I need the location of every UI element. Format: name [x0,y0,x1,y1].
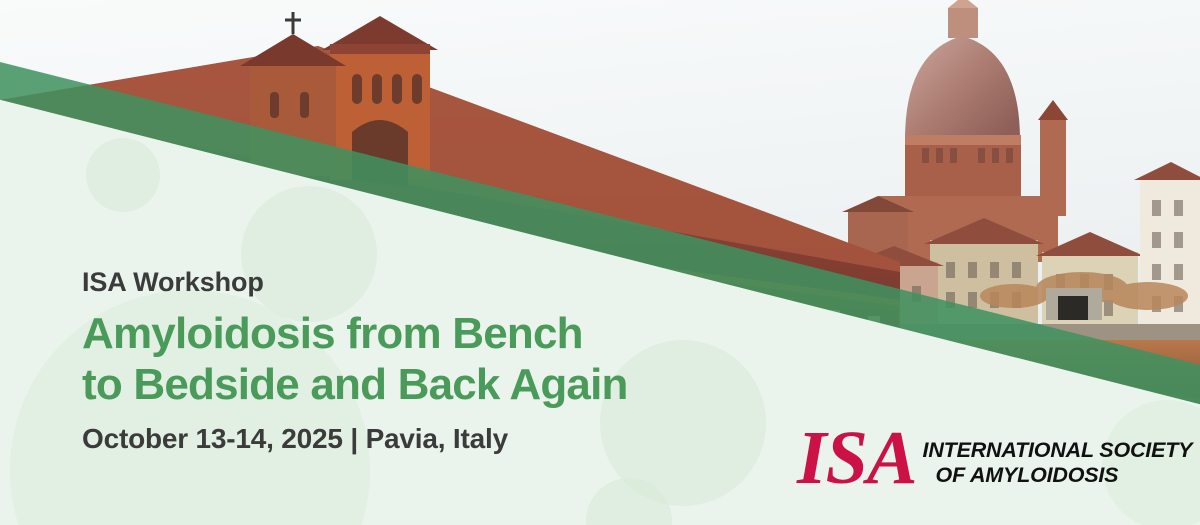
banner-copy: ISA Workshop Amyloidosis from Bench to B… [82,268,722,455]
event-eyebrow: ISA Workshop [82,268,722,298]
event-title-line-2: to Bedside and Back Again [82,359,722,410]
event-date-location: October 13-14, 2025 | Pavia, Italy [82,424,722,455]
isa-logo-wordmark: INTERNATIONAL SOCIETY OF AMYLOIDOSIS [923,438,1193,488]
isa-logo-line-1: INTERNATIONAL SOCIETY [923,438,1193,463]
isa-logo-mark: ISA [797,424,917,494]
event-title-line-1: Amyloidosis from Bench [82,308,722,359]
isa-logo-line-2: OF AMYLOIDOSIS [923,463,1193,488]
event-title: Amyloidosis from Bench to Bedside and Ba… [82,308,722,410]
event-banner: ISA Workshop Amyloidosis from Bench to B… [0,0,1200,525]
isa-logo[interactable]: ISA INTERNATIONAL SOCIETY OF AMYLOIDOSIS [797,424,1192,494]
